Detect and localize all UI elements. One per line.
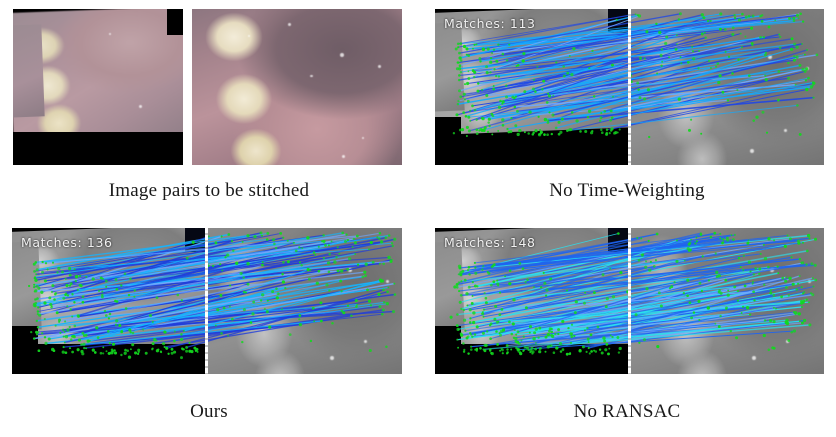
black-padding-bottom xyxy=(13,132,183,165)
highlight-speck xyxy=(784,129,787,132)
highlight-speck xyxy=(364,340,367,343)
pair-divider xyxy=(628,9,631,165)
panel-ours: Matches: 136 Ours xyxy=(0,218,418,437)
highlight-speck xyxy=(348,268,352,272)
black-padding-top-right xyxy=(608,9,628,33)
highlight-speck xyxy=(786,340,789,343)
caption-no-time-weighting: No Time-Weighting xyxy=(418,180,836,202)
highlight-speck xyxy=(808,280,811,283)
black-padding-bottom xyxy=(435,135,628,165)
match-half-right xyxy=(628,228,824,374)
highlight-speck xyxy=(310,75,313,77)
match-visualization-no-time-weighting: Matches: 113 xyxy=(435,9,824,165)
match-half-right xyxy=(628,9,824,165)
warped-gray-plate-edge xyxy=(435,22,465,111)
panel-no-time-weighting: Matches: 113 No Time-Weighting xyxy=(418,0,836,218)
highlight-speck xyxy=(378,65,381,68)
black-padding-top-right xyxy=(185,228,205,252)
highlight-speck xyxy=(248,35,250,37)
black-padding-bottom xyxy=(435,344,628,374)
warped-color-plate-edge xyxy=(13,24,45,117)
highlight-speck xyxy=(750,149,754,153)
status-badge-matches: Matches: 136 xyxy=(21,235,113,250)
black-padding-bottom-left xyxy=(435,117,461,135)
color-image-left xyxy=(13,9,183,165)
match-visualization-ours: Matches: 136 xyxy=(12,228,402,374)
black-padding-top-right xyxy=(167,9,183,35)
highlight-speck xyxy=(330,356,334,360)
highlight-speck xyxy=(806,67,809,70)
pair-divider xyxy=(205,228,208,374)
highlight-speck xyxy=(386,280,389,283)
pair-divider xyxy=(628,228,631,374)
black-padding-bottom-left xyxy=(435,326,461,344)
caption-ours: Ours xyxy=(0,401,418,423)
highlight-speck xyxy=(768,55,772,59)
highlight-speck xyxy=(288,23,291,26)
highlight-speck xyxy=(342,155,345,158)
caption-no-ransac: No RANSAC xyxy=(418,401,836,423)
highlight-speck xyxy=(340,53,344,57)
color-image-right xyxy=(192,9,402,165)
highlight-speck xyxy=(770,268,774,272)
color-frame xyxy=(192,9,402,165)
match-visualization-no-ransac: Matches: 148 xyxy=(435,228,824,374)
panel-image-pairs: Image pairs to be stitched xyxy=(0,0,418,218)
black-padding-bottom-left xyxy=(12,326,38,344)
panel-no-ransac: Matches: 148 No RANSAC xyxy=(418,218,836,437)
match-half-right xyxy=(206,228,402,374)
highlight-speck xyxy=(362,137,364,139)
caption-image-pairs: Image pairs to be stitched xyxy=(0,180,418,202)
status-badge-matches: Matches: 148 xyxy=(444,235,536,250)
warped-gray-plate-edge xyxy=(435,241,465,330)
black-padding-top-right xyxy=(608,228,628,252)
highlight-speck xyxy=(109,33,111,35)
highlight-speck xyxy=(139,105,142,108)
highlight-speck xyxy=(752,356,756,360)
warped-gray-plate-edge xyxy=(12,241,42,330)
match-half-left xyxy=(435,9,628,165)
status-badge-matches: Matches: 113 xyxy=(444,16,536,31)
black-padding-bottom xyxy=(12,344,205,374)
figure-grid: Image pairs to be stitched Matches: 113 … xyxy=(0,0,836,437)
